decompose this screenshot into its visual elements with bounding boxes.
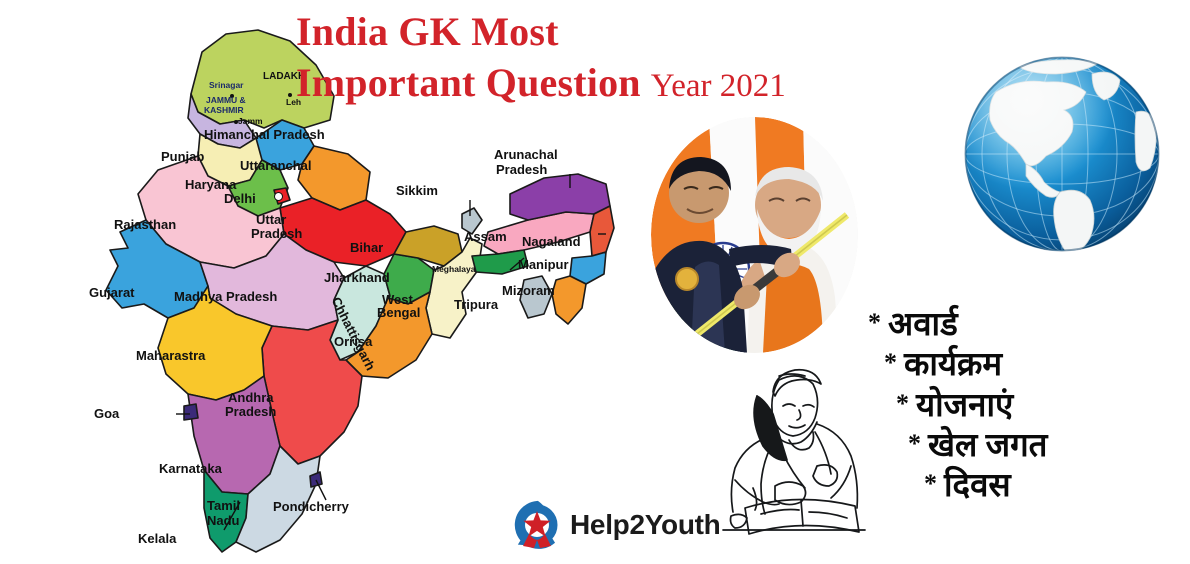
bullet-star-icon: * <box>896 389 909 418</box>
map-label-madhya-pradesh: Madhya Pradesh <box>174 290 277 304</box>
map-label-jammu-kashmir: JAMMU & <box>206 96 246 105</box>
poster-title: India GK Most Important Question Year 20… <box>296 6 876 108</box>
topic-item-award: *अवार्ड <box>868 305 1118 345</box>
map-label-tamil-nadu-line2: Nadu <box>207 514 240 528</box>
map-label-manipur: Manipur <box>518 258 569 272</box>
topic-item-divas: *दिवस <box>924 466 1118 506</box>
topic-label-yojanayen: योजनाएं <box>916 388 1013 424</box>
map-label-arunachal-pradesh: Arunachal <box>494 148 558 162</box>
topic-item-khel-jagat: *खेल जगत <box>908 426 1118 466</box>
topics-list: *अवार्ड *कार्यक्रम *योजनाएं *खेल जगत *दि… <box>868 305 1118 506</box>
writer-eye-right <box>803 405 814 407</box>
map-label-jharkhand: Jharkhand <box>324 271 390 285</box>
map-label-tamil-nadu: Tamil <box>207 499 240 513</box>
state-nagaland <box>590 206 614 256</box>
map-label-goa: Goa <box>94 407 119 421</box>
map-label-uttar-pradesh: Uttar <box>256 213 286 227</box>
globe-svg <box>960 52 1165 257</box>
map-label-assam: Assam <box>464 230 507 244</box>
map-label-uttaranchal: Uttaranchal <box>240 159 312 173</box>
writer-svg <box>705 362 877 540</box>
writer-cuff-left <box>753 488 757 510</box>
logo-mark-icon <box>510 498 564 552</box>
pm-modi-athlete-javelin-photo <box>651 117 858 353</box>
writer-eye-left <box>783 404 795 406</box>
map-label-orrisa: Orrisa <box>334 335 372 349</box>
bullet-star-icon: * <box>924 469 937 498</box>
writer-book-page-lines <box>761 510 799 515</box>
title-year: Year 2021 <box>651 68 786 105</box>
topic-item-karyakram: *कार्यक्रम <box>884 345 1118 385</box>
help2youth-logo[interactable]: Help2Youth <box>510 498 720 552</box>
logo-star-arc-icon <box>510 498 564 552</box>
bullet-star-icon: * <box>908 429 921 458</box>
map-label-gujarat: Gujarat <box>89 286 135 300</box>
map-label-jammu: Jamm <box>238 117 263 126</box>
state-mizoram <box>552 276 586 324</box>
bullet-star-icon: * <box>884 348 897 377</box>
map-label-arunachal-pradesh-line2: Pradesh <box>496 163 547 177</box>
title-line-1: India GK Most <box>296 6 876 57</box>
poster-canvas: LADAKH Srinagar JAMMU & KASHMIR Leh Jamm… <box>0 0 1190 564</box>
map-label-meghalaya: Meghalaya <box>432 265 475 274</box>
map-label-sikkim: Sikkim <box>396 184 438 198</box>
writer-book-spine <box>801 500 803 526</box>
map-label-srinagar: Srinagar <box>209 81 244 90</box>
map-label-karnataka: Karnataka <box>159 462 222 476</box>
logo-wordmark: Help2Youth <box>570 509 720 541</box>
map-label-tripura: Tripura <box>454 298 498 312</box>
delhi-dot <box>274 192 283 201</box>
topic-label-karyakram: कार्यक्रम <box>904 347 1002 383</box>
map-label-himachal-pradesh: Himanchal Pradesh <box>204 128 325 142</box>
map-label-pondicherry: Pondicherry <box>273 500 349 514</box>
bullet-star-icon: * <box>868 308 881 337</box>
map-label-delhi: Delhi <box>224 192 256 206</box>
topic-label-divas: दिवस <box>944 468 1011 504</box>
map-label-andhra-pradesh: Andhra <box>228 391 274 405</box>
map-label-punjab: Punjab <box>161 150 204 164</box>
topic-item-yojanayen: *योजनाएं <box>896 386 1118 426</box>
title-line-2: Important Question <box>296 57 641 108</box>
writer-coat-lapel-right <box>815 432 831 474</box>
writer-quill-feather <box>754 396 787 460</box>
writer-mouth <box>789 425 805 428</box>
world-globe-graphic <box>960 52 1165 257</box>
writer-book-page-lines-2 <box>809 512 847 518</box>
map-label-andhra-pradesh-line2: Pradesh <box>225 405 276 419</box>
map-label-maharastra: Maharastra <box>136 349 205 363</box>
topic-label-award: अवार्ड <box>888 307 958 343</box>
writer-with-quill-sketch <box>705 362 877 540</box>
state-goa <box>184 404 198 420</box>
map-label-nagaland: Nagaland <box>522 235 581 249</box>
map-label-kelala: Kelala <box>138 532 176 546</box>
writer-nose <box>797 410 801 420</box>
map-label-west-bengal-line2: Bengal <box>377 306 420 320</box>
writer-hand-right <box>813 465 837 486</box>
topic-label-khel-jagat: खेल जगत <box>928 428 1048 464</box>
map-label-haryana: Haryana <box>185 178 236 192</box>
map-label-jammu-kashmir-line2: KASHMIR <box>204 106 244 115</box>
photo-illustration <box>651 117 858 353</box>
map-label-uttar-pradesh-line2: Pradesh <box>251 227 302 241</box>
map-label-mizoram: Mizoram <box>502 284 555 298</box>
writer-inkwell <box>731 514 748 528</box>
map-label-rajasthan: Rajasthan <box>114 218 176 232</box>
gold-medal <box>676 268 698 290</box>
map-label-bihar: Bihar <box>350 241 383 255</box>
